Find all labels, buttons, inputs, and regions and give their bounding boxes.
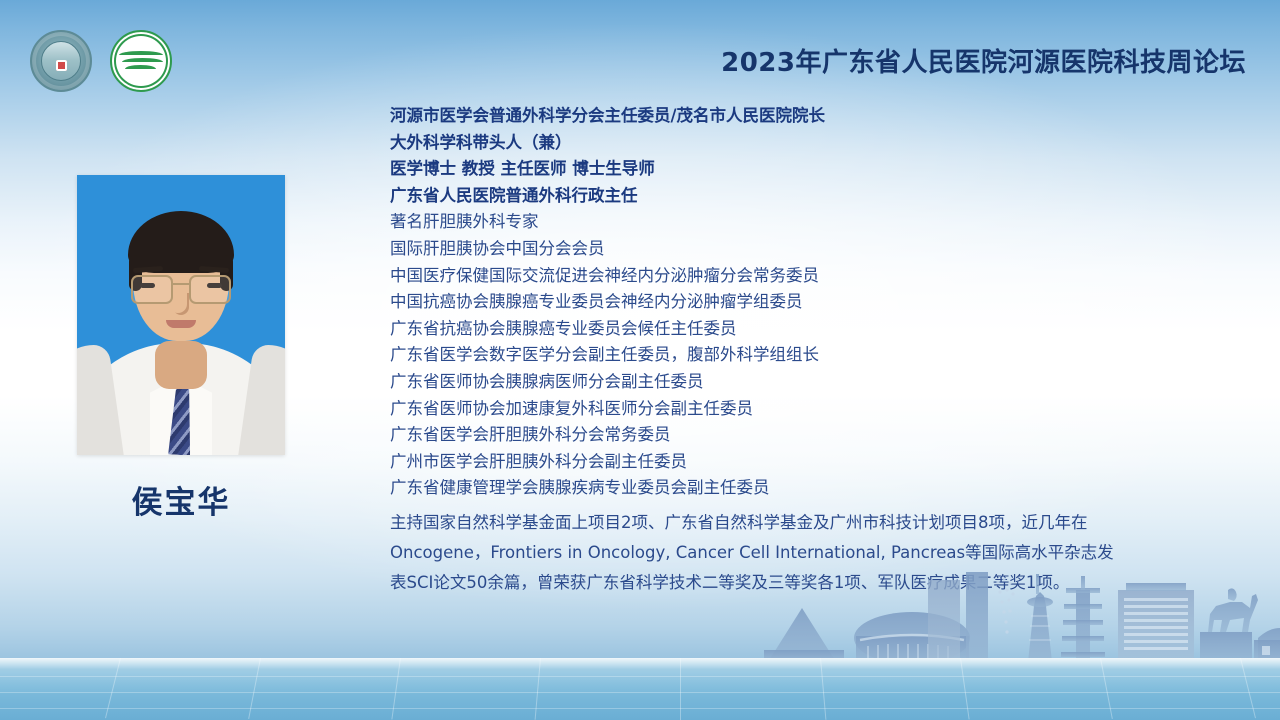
bio-detail-line: 中国医疗保健国际交流促进会神经内分泌肿瘤分会常务委员 <box>390 263 1236 290</box>
ground-grid <box>0 658 1280 720</box>
forum-title: 2023年广东省人民医院河源医院科技周论坛 <box>721 42 1246 79</box>
bio-highlight-line: 河源市医学会普通外科学分会主任委员/茂名市人民医院院长 <box>390 103 1236 130</box>
bio-detail-line: 著名肝胆胰外科专家 <box>390 209 1236 236</box>
speaker-bio: 河源市医学会普通外科学分会主任委员/茂名市人民医院院长 大外科学科带头人（兼） … <box>390 103 1236 598</box>
heyuan-peoples-hospital-logo <box>110 30 172 92</box>
bio-summary-line: Oncogene，Frontiers in Oncology, Cancer C… <box>390 538 1236 568</box>
bio-highlight-line: 广东省人民医院普通外科行政主任 <box>390 183 1236 210</box>
speaker-portrait-block: 侯宝华 <box>77 175 285 522</box>
mouth <box>166 320 196 328</box>
hair <box>128 211 234 273</box>
bio-detail-line: 广东省抗癌协会胰腺癌专业委员会候任主任委员 <box>390 316 1236 343</box>
coat-shade-left <box>77 345 124 455</box>
bio-summary-paragraph: 主持国家自然科学基金面上项目2项、广东省自然科学基金及广州市科技计划项目8项，近… <box>390 508 1236 598</box>
bio-detail-line: 中国抗癌协会胰腺癌专业委员会神经内分泌肿瘤学组委员 <box>390 289 1236 316</box>
bio-detail-line: 广东省医师协会加速康复外科医师分会副主任委员 <box>390 396 1236 423</box>
nose <box>173 293 189 315</box>
bio-detail-line: 广东省医学会肝胆胰外科分会常务委员 <box>390 422 1236 449</box>
heyuan-medical-association-logo <box>30 30 92 92</box>
bio-detail-line: 广东省医学会数字医学分会副主任委员，腹部外科学组组长 <box>390 342 1236 369</box>
bio-summary-line: 主持国家自然科学基金面上项目2项、广东省自然科学基金及广州市科技计划项目8项，近… <box>390 508 1236 538</box>
bio-detail-line: 广州市医学会肝胆胰外科分会副主任委员 <box>390 449 1236 476</box>
neck <box>155 341 207 389</box>
bio-detail-line: 广东省医师协会胰腺病医师分会副主任委员 <box>390 369 1236 396</box>
bio-summary-line: 表SCI论文50余篇，曾荣获广东省科学技术二等奖及三等奖各1项、军队医疗成果二等… <box>390 568 1236 598</box>
bio-highlight-line: 大外科学科带头人（兼） <box>390 130 1236 157</box>
wave-icon <box>119 51 163 71</box>
bio-detail-line: 国际肝胆胰协会中国分会会员 <box>390 236 1236 263</box>
speaker-name: 侯宝华 <box>77 477 285 522</box>
bio-detail-line: 广东省健康管理学会胰腺疾病专业委员会副主任委员 <box>390 475 1236 502</box>
speaker-photo <box>77 175 285 455</box>
coat-shade-right <box>238 345 285 455</box>
presentation-slide: 2023年广东省人民医院河源医院科技周论坛 侯宝华 河源市医学会普 <box>0 0 1280 720</box>
header-logos <box>30 30 172 92</box>
bio-highlight-line: 医学博士 教授 主任医师 博士生导师 <box>390 156 1236 183</box>
